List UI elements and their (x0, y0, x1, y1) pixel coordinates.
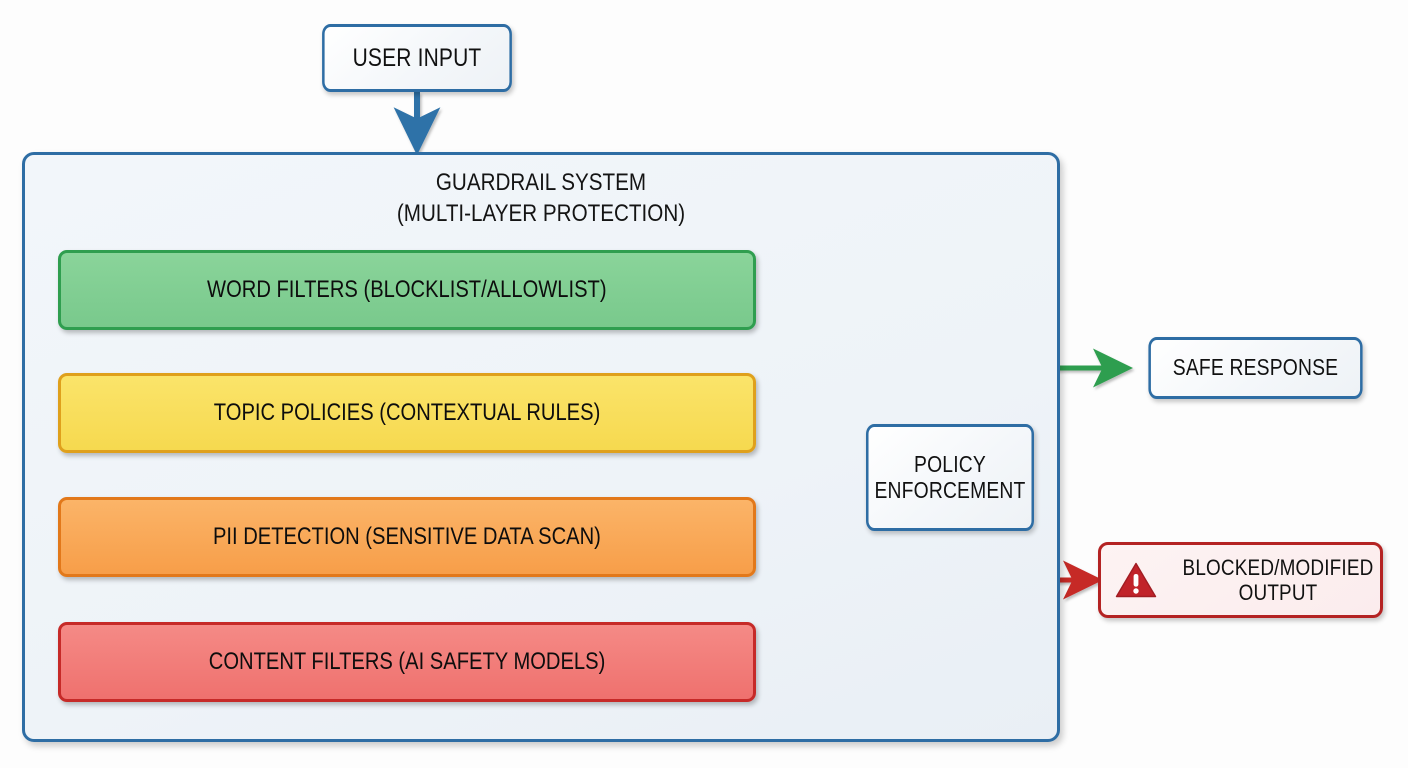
diagram-canvas: USER INPUT GUARDRAIL SYSTEM (MULTI-LAYER… (0, 0, 1408, 768)
user-input-label: USER INPUT (325, 44, 510, 72)
layer-topic-policies: TOPIC POLICIES (CONTEXTUAL RULES) (58, 373, 756, 453)
layer-pii-detection: PII DETECTION (SENSITIVE DATA SCAN) (58, 497, 756, 577)
blocked-modified-output-label: BLOCKED/MODIFIED OUTPUT (1183, 555, 1374, 605)
layer-word-filters-label: WORD FILTERS (BLOCKLIST/ALLOWLIST) (207, 276, 607, 304)
layer-topic-policies-label: TOPIC POLICIES (CONTEXTUAL RULES) (214, 399, 600, 427)
safe-response-label: SAFE RESPONSE (1151, 355, 1360, 381)
guardrail-system-title: GUARDRAIL SYSTEM (MULTI-LAYER PROTECTION… (95, 168, 988, 229)
policy-enforcement-label: POLICY ENFORCEMENT (869, 452, 1032, 504)
layer-pii-detection-label: PII DETECTION (SENSITIVE DATA SCAN) (213, 523, 601, 551)
layer-word-filters: WORD FILTERS (BLOCKLIST/ALLOWLIST) (58, 250, 756, 330)
safe-response-node: SAFE RESPONSE (1148, 337, 1362, 399)
blocked-modified-output-node: BLOCKED/MODIFIED OUTPUT (1098, 542, 1383, 618)
policy-enforcement-node: POLICY ENFORCEMENT (866, 424, 1034, 531)
user-input-node: USER INPUT (322, 24, 512, 92)
layer-content-filters-label: CONTENT FILTERS (AI SAFETY MODELS) (209, 648, 606, 676)
layer-content-filters: CONTENT FILTERS (AI SAFETY MODELS) (58, 622, 756, 702)
warning-triangle-icon (1115, 561, 1157, 599)
